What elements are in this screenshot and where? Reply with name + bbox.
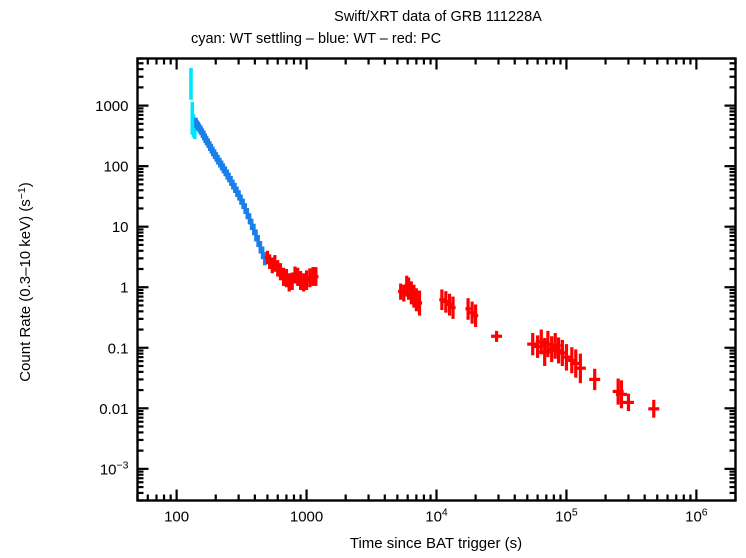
series-wt <box>196 118 265 266</box>
titles: Swift/XRT data of GRB 111228A cyan: WT s… <box>191 9 542 47</box>
y-axis-tick-labels: 10001001010.10.0110−3 <box>95 98 129 478</box>
y-tick-label: 0.1 <box>108 340 129 357</box>
svg-text:Count Rate (0.3–10 keV) (s−1): Count Rate (0.3–10 keV) (s−1) <box>16 182 34 382</box>
axes-frame <box>138 59 736 501</box>
chart-subtitle: cyan: WT settling – blue: WT – red: PC <box>191 31 441 47</box>
series-pc <box>265 251 659 418</box>
x-tick-label: 100 <box>164 509 189 526</box>
series-wt-settling <box>191 68 195 139</box>
y-tick-label: 0.01 <box>99 401 128 418</box>
y-tick-label: 10−3 <box>100 459 129 478</box>
plot-frame <box>138 59 736 501</box>
x-tick-label: 105 <box>555 507 578 526</box>
data-series-layer <box>191 68 659 418</box>
x-tick-label: 106 <box>685 507 708 526</box>
y-tick-label: 1000 <box>95 98 128 115</box>
chart-title: Swift/XRT data of GRB 111228A <box>334 9 542 25</box>
plot-canvas: Swift/XRT data of GRB 111228A cyan: WT s… <box>0 0 746 558</box>
y-tick-label: 10 <box>112 219 129 236</box>
x-tick-label: 1000 <box>290 509 323 526</box>
x-axis-tick-labels: 1001000104105106 <box>164 507 708 526</box>
y-tick-label: 100 <box>103 159 128 176</box>
y-axis-label: Count Rate (0.3–10 keV) (s−1) <box>16 182 34 382</box>
y-tick-label: 1 <box>120 280 128 297</box>
figure-container: Swift/XRT data of GRB 111228A cyan: WT s… <box>0 0 746 558</box>
x-axis-label: Time since BAT trigger (s) <box>350 535 522 552</box>
x-tick-label: 104 <box>425 507 448 526</box>
